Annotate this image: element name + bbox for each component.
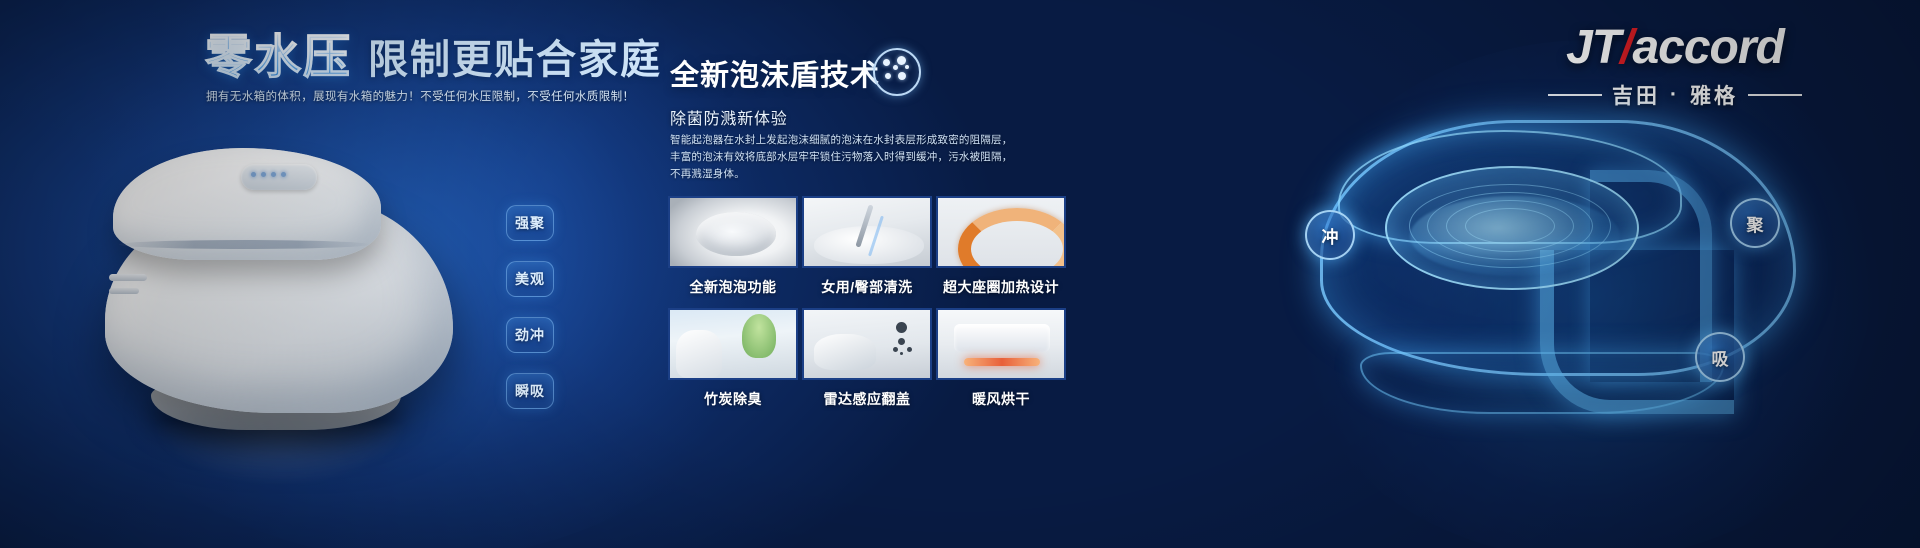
xray-badge-2[interactable]: 吸 <box>1695 332 1745 382</box>
paragraph-line-0: 智能起泡器在水封上发起泡沫细腻的泡沫在水封表层形成致密的阻隔层， <box>670 132 1000 149</box>
feature-pill-1[interactable]: 美观 <box>506 261 554 297</box>
feature-cell-1[interactable]: 女用/臀部清洗 <box>802 196 932 306</box>
brand-cn-dot: · <box>1670 83 1680 107</box>
xray-water-flow <box>1410 196 1620 276</box>
brand-logo-jt: JT <box>1566 21 1620 74</box>
center-paragraph: 智能起泡器在水封上发起泡沫细腻的泡沫在水封表层形成致密的阻隔层， 丰富的泡沫有效… <box>670 132 1000 183</box>
headline-strong: 零水压 <box>205 30 368 83</box>
product-side-button <box>109 274 147 281</box>
product-indicator-lights <box>251 172 286 177</box>
product-side-button-2 <box>109 288 139 294</box>
bamboo-charcoal-deodorize-icon <box>668 308 798 380</box>
product-banner: 零水压限制更贴合家庭 拥有无水箱的体积，展现有水箱的魅力！不受任何水压限制，不受… <box>0 0 1920 548</box>
center-panel: 全新泡沫盾技术 除菌防溅新体验 智能起泡器在水封上发起泡沫细腻的泡沫在水封表层形… <box>660 0 1100 548</box>
headline-rest-1: 限制 <box>368 38 452 82</box>
feature-pill-list: 强聚 美观 劲冲 瞬吸 <box>506 205 554 409</box>
logo-rule-right <box>1748 94 1802 96</box>
toilet-xray-cutaway-icon: 冲 聚 吸 <box>1290 110 1810 440</box>
xray-badge-1[interactable]: 聚 <box>1730 198 1780 248</box>
toilet-bowl-foam-icon <box>668 196 798 268</box>
brand-logo-wordmark: JT/accord <box>1510 24 1840 72</box>
feature-cell-5[interactable]: 暖风烘干 <box>936 308 1066 418</box>
center-subtitle: 除菌防溅新体验 <box>670 105 788 129</box>
feature-label-4: 雷达感应翻盖 <box>802 380 932 418</box>
feature-label-1: 女用/臀部清洗 <box>802 268 932 306</box>
paragraph-line-2: 不再溅湿身体。 <box>670 166 1000 183</box>
paragraph-line-1: 丰富的泡沫有效将底部水层牢牢锁住污物落入时得到缓冲，污水被阻隔， <box>670 149 1000 166</box>
feature-cell-3[interactable]: 竹炭除臭 <box>668 308 798 418</box>
brand-cn-right: 雅格 <box>1690 80 1738 110</box>
feature-label-3: 竹炭除臭 <box>668 380 798 418</box>
feature-label-5: 暖风烘干 <box>936 380 1066 418</box>
brand-logo[interactable]: JT/accord 吉田 · 雅格 <box>1510 24 1840 110</box>
brand-cn-left: 吉田 <box>1612 80 1660 110</box>
left-headline: 零水压限制更贴合家庭 <box>205 33 662 80</box>
feature-grid: 全新泡泡功能 女用/臀部清洗 超大座圈加热设计 竹炭除臭 雷达感应翻盖 暖风烘干 <box>668 196 1066 418</box>
nozzle-wash-icon <box>802 196 932 268</box>
feature-pill-3[interactable]: 瞬吸 <box>506 373 554 409</box>
product-control-panel <box>241 164 317 190</box>
right-panel: JT/accord 吉田 · 雅格 冲 聚 吸 <box>1130 0 1920 548</box>
feature-pill-2[interactable]: 劲冲 <box>506 317 554 353</box>
brand-logo-chinese: 吉田 · 雅格 <box>1510 80 1840 110</box>
brand-logo-accent: / <box>1620 21 1632 74</box>
feature-cell-4[interactable]: 雷达感应翻盖 <box>802 308 932 418</box>
logo-rule-left <box>1548 94 1602 96</box>
brand-logo-accord: accord <box>1632 21 1783 74</box>
headline-rest-2: 更贴合家庭 <box>452 38 662 82</box>
radar-sensor-lid-icon <box>802 308 932 380</box>
product-seam <box>119 240 369 249</box>
feature-label-0: 全新泡泡功能 <box>668 268 798 306</box>
center-title: 全新泡沫盾技术 <box>670 52 880 94</box>
heated-seat-ring-icon <box>936 196 1066 268</box>
left-panel: 零水压限制更贴合家庭 拥有无水箱的体积，展现有水箱的魅力！不受任何水压限制，不受… <box>0 0 640 548</box>
left-subline: 拥有无水箱的体积，展现有水箱的魅力！不受任何水压限制，不受任何水质限制！ <box>206 88 634 104</box>
feature-cell-0[interactable]: 全新泡泡功能 <box>668 196 798 306</box>
foam-bubbles-icon <box>873 48 921 96</box>
feature-label-2: 超大座圈加热设计 <box>936 268 1066 306</box>
xray-badge-0[interactable]: 冲 <box>1305 210 1355 260</box>
feature-cell-2[interactable]: 超大座圈加热设计 <box>936 196 1066 306</box>
warm-air-dryer-icon <box>936 308 1066 380</box>
product-reflection <box>155 424 405 484</box>
feature-pill-0[interactable]: 强聚 <box>506 205 554 241</box>
smart-toilet-product-icon <box>95 128 465 428</box>
